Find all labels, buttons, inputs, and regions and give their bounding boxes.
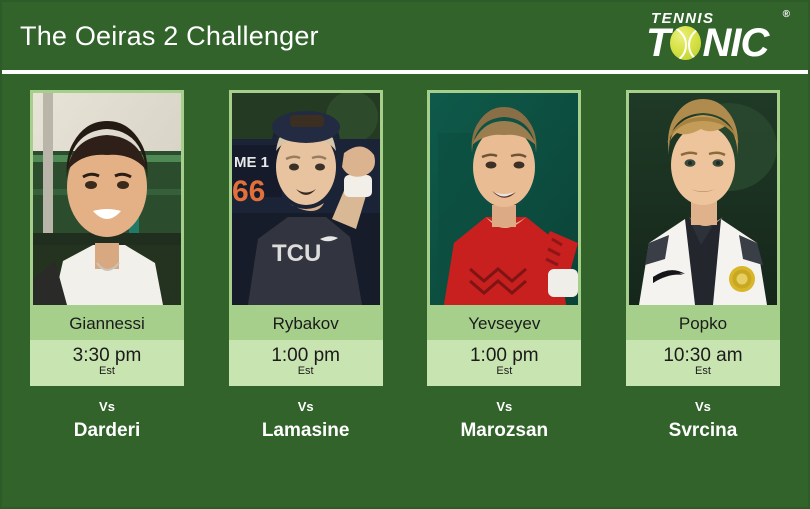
svg-text:TCU: TCU — [272, 240, 321, 267]
match-timezone: Est — [231, 365, 381, 377]
match-time: 1:00 pm — [429, 346, 579, 366]
match-time-block: 10:30 am Est — [626, 340, 780, 386]
player-photo — [626, 90, 780, 308]
tournament-schedule-card: The Oeiras 2 Challenger TENNIS ® T N I C — [0, 0, 810, 509]
vs-label: Vs — [30, 400, 184, 413]
vs-label: Vs — [229, 400, 383, 413]
vs-label: Vs — [427, 400, 581, 413]
match-card[interactable]: ME 1 66 — [229, 90, 383, 440]
opponent-name: Svrcina — [626, 421, 780, 440]
opponent-name: Darderi — [30, 421, 184, 440]
player-photo-yevseyev — [430, 93, 578, 305]
player-photo-rybakov: ME 1 66 — [232, 93, 380, 305]
match-time: 1:00 pm — [231, 346, 381, 366]
match-time-block: 1:00 pm Est — [427, 340, 581, 386]
match-time: 3:30 pm — [32, 346, 182, 366]
logo-letter-c: C — [740, 24, 768, 62]
match-time: 10:30 am — [628, 346, 778, 366]
player-photo-popko — [629, 93, 777, 305]
opponent-name: Lamasine — [229, 421, 383, 440]
player-name: Rybakov — [229, 308, 383, 340]
player-photo-giannessi — [33, 93, 181, 305]
logo-letter-t: T — [646, 24, 669, 62]
registered-trademark-icon: ® — [783, 9, 790, 20]
player-name: Popko — [626, 308, 780, 340]
player-name: Giannessi — [30, 308, 184, 340]
opponent-name: Marozsan — [427, 421, 581, 440]
vs-label: Vs — [626, 400, 780, 413]
match-time-block: 3:30 pm Est — [30, 340, 184, 386]
page-title: The Oeiras 2 Challenger — [20, 21, 319, 52]
match-card[interactable]: Yevseyev 1:00 pm Est Vs Marozsan — [427, 90, 581, 440]
logo-wordmark: T N I C — [646, 24, 768, 62]
svg-text:66: 66 — [232, 175, 265, 208]
logo-letter-i: I — [730, 24, 740, 62]
logo-letter-n: N — [702, 24, 730, 62]
match-card[interactable]: Giannessi 3:30 pm Est Vs Darderi — [30, 90, 184, 440]
player-photo — [427, 90, 581, 308]
match-timezone: Est — [429, 365, 579, 377]
match-time-block: 1:00 pm Est — [229, 340, 383, 386]
tennis-ball-icon — [670, 26, 701, 60]
tennis-tonic-logo[interactable]: TENNIS ® T N I C — [642, 7, 794, 65]
svg-text:ME 1: ME 1 — [234, 154, 269, 171]
match-card-list: Giannessi 3:30 pm Est Vs Darderi ME 1 66 — [2, 70, 808, 440]
header-bar: The Oeiras 2 Challenger TENNIS ® T N I C — [2, 2, 808, 70]
match-card[interactable]: Popko 10:30 am Est Vs Svrcina — [626, 90, 780, 440]
player-photo — [30, 90, 184, 308]
match-timezone: Est — [32, 365, 182, 377]
player-name: Yevseyev — [427, 308, 581, 340]
header-divider — [2, 70, 808, 74]
match-timezone: Est — [628, 365, 778, 377]
player-photo: ME 1 66 — [229, 90, 383, 308]
